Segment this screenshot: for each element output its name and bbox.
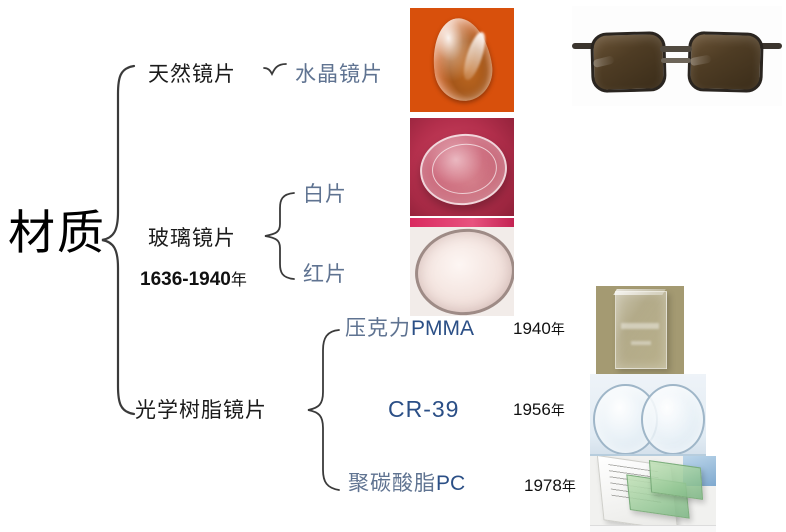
leaf-label-white-glass: 白片 bbox=[303, 184, 347, 205]
leaf-label-pc-latin: PC bbox=[436, 472, 465, 495]
pmma-etched-text bbox=[621, 323, 660, 329]
leaf-label-pmma-latin: PMMA bbox=[411, 317, 474, 340]
pc-photo-bottom-strip bbox=[590, 525, 716, 532]
glass-period-label: 1636-1940年 bbox=[140, 270, 247, 289]
year-value-pmma: 1940 bbox=[513, 319, 551, 338]
year-label-pc: 1978年 bbox=[524, 477, 576, 494]
branch-label-glass-lens: 玻璃镜片 bbox=[148, 228, 236, 249]
leaf-label-pmma-cjk: 压克力 bbox=[345, 316, 411, 340]
pmma-etched-text-secondary bbox=[631, 341, 650, 345]
white-glass-photo bbox=[410, 118, 514, 216]
sunglasses-lens-right bbox=[687, 31, 764, 93]
year-suffix-cr39: 年 bbox=[551, 403, 565, 419]
slide-canvas: 材质 天然镜片 玻璃镜片 1636-1940年 光学树脂镜片 水晶镜片 白片 红… bbox=[0, 0, 786, 532]
sunglasses-lens-left-shine bbox=[592, 55, 615, 67]
pmma-photo bbox=[596, 286, 684, 374]
sunglasses-bridge-bar bbox=[661, 58, 690, 63]
sunglasses-photo bbox=[572, 6, 782, 106]
red-glass-photo bbox=[410, 218, 514, 316]
brace-glass bbox=[262, 190, 298, 282]
leaf-label-crystal-lens: 水晶镜片 bbox=[295, 64, 383, 85]
cr39-photo bbox=[590, 374, 706, 462]
red-glass-photo-stripe bbox=[410, 218, 514, 227]
white-glass-lens-inner-ring bbox=[430, 140, 500, 197]
branch-label-natural-lens: 天然镜片 bbox=[148, 64, 236, 85]
leaf-label-pc: 聚碳酸脂PC bbox=[348, 473, 465, 494]
year-value-pc: 1978 bbox=[524, 476, 562, 495]
sunglasses-lens-left bbox=[590, 31, 667, 93]
year-label-pmma: 1940年 bbox=[513, 320, 565, 337]
white-glass-lens-shape bbox=[417, 129, 511, 208]
root-label-material: 材质 bbox=[8, 210, 106, 257]
brace-resin bbox=[305, 326, 343, 494]
branch-label-optical-resin-lens: 光学树脂镜片 bbox=[135, 400, 267, 421]
pc-photo bbox=[590, 456, 716, 532]
glass-period-suffix: 年 bbox=[231, 270, 247, 289]
year-label-cr39: 1956年 bbox=[513, 401, 565, 418]
year-value-cr39: 1956 bbox=[513, 400, 551, 419]
leaf-label-red-glass: 红片 bbox=[303, 264, 347, 285]
pmma-block-shape bbox=[615, 291, 666, 369]
cr39-lens-right bbox=[641, 384, 705, 455]
glass-period-range: 1636-1940 bbox=[140, 269, 231, 290]
crystal-photo bbox=[410, 8, 514, 112]
red-glass-lens-shape bbox=[410, 223, 514, 316]
year-suffix-pc: 年 bbox=[562, 479, 576, 495]
leaf-label-pmma: 压克力PMMA bbox=[345, 318, 474, 339]
crystal-drop-shape bbox=[427, 15, 496, 105]
brace-natural bbox=[262, 60, 290, 86]
year-suffix-pmma: 年 bbox=[551, 322, 565, 338]
leaf-label-pc-cjk: 聚碳酸脂 bbox=[348, 471, 436, 495]
sunglasses-lens-right-shine bbox=[689, 54, 711, 65]
leaf-label-cr39: CR-39 bbox=[388, 398, 459, 421]
brace-root bbox=[98, 62, 138, 418]
sunglasses-bridge bbox=[660, 46, 692, 52]
